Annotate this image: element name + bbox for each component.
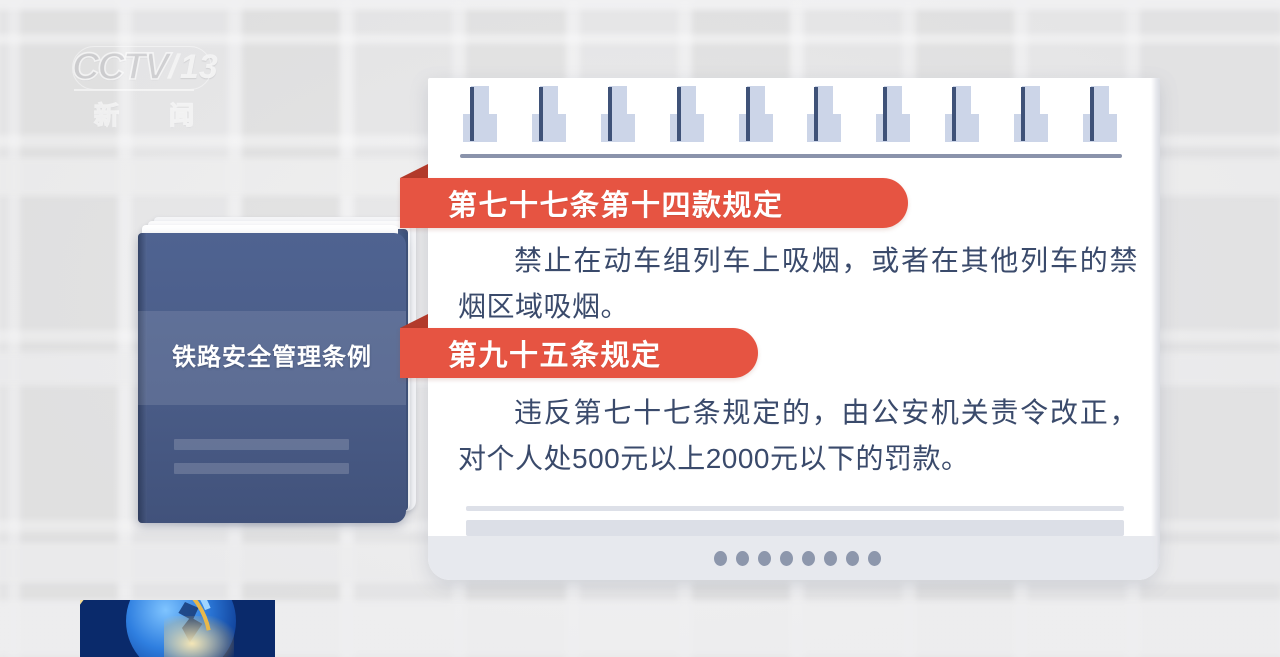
binding-staple-icon [598,86,638,142]
binding-staple-icon [667,86,707,142]
book-title: 铁路安全管理条例 [138,337,406,372]
card-right-edge [1151,78,1160,580]
binding-staple-icon [804,86,844,142]
card-bottom-rule-thick [466,520,1124,536]
cctv13-news-watermark: CCTV / 13 新 闻 [72,44,212,136]
news-bumper-graphic [80,600,275,657]
footer-dot [758,551,771,566]
watermark-news-char-2: 闻 [169,96,194,132]
banner-fold-icon [400,314,428,328]
banner-body: 第七十七条第十四款规定 [400,178,908,228]
book-decor-line [174,463,349,474]
watermark-pill-outline [72,46,212,90]
binding-staple-icon [942,86,982,142]
footer-dot [846,551,859,566]
card-top-rule [460,154,1122,158]
watermark-news-char-1: 新 [94,96,119,132]
broadcast-screen: CCTV / 13 新 闻 铁路安全管理条例 [0,0,1280,657]
section-banner-label-2: 第九十五条规定 [448,332,662,374]
footer-dot [714,551,727,566]
section-body-2: 违反第七十七条规定的，由公安机关责令改正，对个人处500元以上2000元以下的罚… [458,390,1138,482]
notepad-binding [460,86,1120,142]
regulation-card: 禁止在动车组列车上吸烟，或者在其他列车的禁烟区域吸烟。 违反第七十七条规定的，由… [428,78,1160,580]
banner-body: 第九十五条规定 [400,328,758,378]
card-bottom-rule-thin [466,506,1124,511]
binding-staple-icon [460,86,500,142]
watermark-underline [74,89,194,91]
binding-staple-icon [873,86,913,142]
watermark-news-label: 新 闻 [94,96,194,132]
regulation-book: 铁路安全管理条例 [120,215,420,520]
binding-staple-icon [1080,86,1120,142]
footer-dots [714,551,881,566]
footer-dot [736,551,749,566]
binding-staple-icon [529,86,569,142]
footer-dot [780,551,793,566]
banner-fold-icon [400,164,428,178]
binding-staple-icon [736,86,776,142]
footer-dot [802,551,815,566]
section-body-1: 禁止在动车组列车上吸烟，或者在其他列车的禁烟区域吸烟。 [458,238,1138,330]
book-decor-line [174,439,349,450]
footer-dot [824,551,837,566]
card-footer [428,536,1160,580]
book-cover: 铁路安全管理条例 [138,233,406,523]
section-banner-label-1: 第七十七条第十四款规定 [448,182,784,224]
footer-dot [868,551,881,566]
binding-staple-icon [1011,86,1051,142]
